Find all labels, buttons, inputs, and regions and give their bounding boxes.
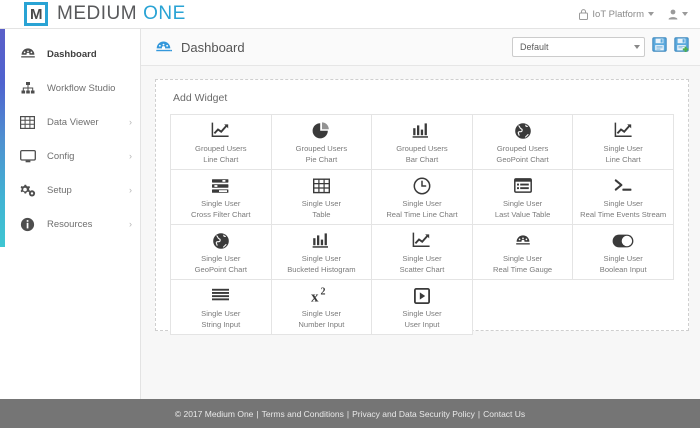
add-widget-title: Add Widget <box>173 92 674 104</box>
top-bar-right: IoT Platform <box>579 9 700 20</box>
dashboard-gauge-icon <box>155 39 172 56</box>
sidebar-item-label: Workflow Studio <box>47 83 115 94</box>
sidebar-item-label: Dashboard <box>47 49 97 60</box>
widget-card[interactable]: Single User GeoPoint Chart <box>171 225 272 280</box>
widget-scope: Grouped Users <box>396 143 448 154</box>
widget-card[interactable]: Single User Line Chart <box>573 115 674 170</box>
lock-icon <box>579 9 588 20</box>
dashboard-gauge-icon <box>19 46 36 63</box>
widget-type: Number Input <box>298 319 344 330</box>
save-dashboard-button[interactable] <box>652 37 667 57</box>
widget-scope: Single User <box>604 198 643 209</box>
footer-link-contact[interactable]: Contact Us <box>483 409 525 419</box>
widget-card[interactable]: Grouped Users Bar Chart <box>372 115 473 170</box>
widget-scope: Single User <box>302 308 341 319</box>
gears-icon <box>19 182 36 199</box>
widget-type: Pie Chart <box>306 154 338 165</box>
widget-scope: Single User <box>302 198 341 209</box>
footer-link-privacy[interactable]: Privacy and Data Security Policy <box>352 409 475 419</box>
sitemap-icon <box>19 80 36 97</box>
widget-type: Boolean Input <box>600 264 647 275</box>
bar-chart-icon <box>312 231 331 250</box>
sliders-icon <box>211 176 230 195</box>
chevron-right-icon: › <box>129 220 132 229</box>
widget-type: GeoPoint Chart <box>496 154 548 165</box>
brand-name: MEDIUMONE <box>57 3 186 25</box>
clock-icon <box>413 176 431 195</box>
widget-type: Bucketed Histogram <box>287 264 355 275</box>
widget-grid-empty-cell <box>573 280 674 335</box>
widget-type: Line Chart <box>606 154 641 165</box>
footer-separator: | <box>475 409 483 419</box>
sidebar-item-setup[interactable]: Setup › <box>0 173 140 207</box>
sidebar-item-resources[interactable]: Resources › <box>0 207 140 241</box>
widget-scope: Grouped Users <box>296 143 348 154</box>
widget-scope: Single User <box>503 253 542 264</box>
footer-link-terms[interactable]: Terms and Conditions <box>262 409 344 419</box>
dashboard-gauge-icon <box>514 231 532 250</box>
widget-scope: Single User <box>503 198 542 209</box>
monitor-icon <box>19 148 36 165</box>
save-as-new-dashboard-button[interactable] <box>674 37 689 57</box>
widget-type: Last Value Table <box>495 209 550 220</box>
sidebar-item-label: Config <box>47 151 74 162</box>
table-grid-icon <box>313 176 330 195</box>
play-box-icon <box>414 286 430 305</box>
main-content: Dashboard Default <box>141 29 700 399</box>
widget-card[interactable]: Single User Real Time Gauge <box>473 225 574 280</box>
widget-scope: Single User <box>302 253 341 264</box>
widget-type: Scatter Chart <box>400 264 445 275</box>
line-chart-icon <box>211 121 230 140</box>
widget-type: User Input <box>404 319 439 330</box>
save-floppy-icon <box>652 37 667 57</box>
widget-card[interactable]: Single User Boolean Input <box>573 225 674 280</box>
widget-grid-empty-cell <box>473 280 574 335</box>
platform-label: IoT Platform <box>592 9 644 20</box>
widget-card[interactable]: Single User Bucketed Histogram <box>272 225 373 280</box>
widget-scope: Single User <box>201 198 240 209</box>
widget-card[interactable]: Grouped Users GeoPoint Chart <box>473 115 574 170</box>
sidebar-item-label: Data Viewer <box>47 117 99 128</box>
widget-scope: Single User <box>604 143 643 154</box>
widget-card[interactable]: Grouped Users Line Chart <box>171 115 272 170</box>
brand-logo[interactable]: M MEDIUMONE <box>0 2 186 26</box>
widget-grid: Grouped Users Line Chart Grouped Users P… <box>170 114 674 335</box>
globe-icon <box>514 121 532 140</box>
sidebar-item-label: Setup <box>47 185 72 196</box>
svg-text:2: 2 <box>320 287 325 298</box>
chevron-down-icon <box>634 45 640 49</box>
info-circle-icon <box>19 216 36 233</box>
toggle-on-icon <box>612 231 634 250</box>
logo-mark-icon: M <box>24 2 48 26</box>
page-header-tools: Default <box>512 37 689 57</box>
app-root: M MEDIUMONE IoT Platform <box>0 0 700 428</box>
dashboard-select[interactable]: Default <box>512 37 645 57</box>
widget-type: Line Chart <box>203 154 238 165</box>
line-chart-icon <box>412 231 431 250</box>
add-widget-panel: Add Widget Grouped Users Line Chart <box>155 79 689 331</box>
sidebar-item-config[interactable]: Config › <box>0 139 140 173</box>
widget-card[interactable]: Single User Table <box>272 170 373 225</box>
widget-card[interactable]: Single User String Input <box>171 280 272 335</box>
page-header: Dashboard Default <box>141 29 700 66</box>
sidebar-item-workflow-studio[interactable]: Workflow Studio <box>0 71 140 105</box>
widget-type: Real Time Events Stream <box>580 209 666 220</box>
save-floppy-plus-icon <box>674 37 689 57</box>
widget-type: Bar Chart <box>406 154 439 165</box>
widget-scope: Grouped Users <box>195 143 247 154</box>
widget-type: String Input <box>201 319 240 330</box>
widget-card[interactable]: Single User User Input <box>372 280 473 335</box>
bar-chart-icon <box>412 121 431 140</box>
dashboard-select-value: Default <box>520 42 630 52</box>
list-alt-icon <box>514 176 532 195</box>
widget-card[interactable]: Single User Scatter Chart <box>372 225 473 280</box>
widget-type: GeoPoint Chart <box>195 264 247 275</box>
widget-card[interactable]: x2 Single User Number Input <box>272 280 373 335</box>
logo-letter: M <box>30 7 42 22</box>
footer-copyright: © 2017 Medium One <box>175 409 254 419</box>
widget-type: Cross Filter Chart <box>191 209 251 220</box>
widget-card[interactable]: Single User Last Value Table <box>473 170 574 225</box>
superscript-icon: x2 <box>311 286 332 305</box>
page-title: Dashboard <box>181 40 245 55</box>
footer-separator: | <box>344 409 352 419</box>
chevron-right-icon: › <box>129 152 132 161</box>
widget-scope: Single User <box>402 253 441 264</box>
sidebar-item-label: Resources <box>47 219 92 230</box>
globe-icon <box>212 231 230 250</box>
sidebar-item-dashboard[interactable]: Dashboard <box>0 37 140 71</box>
widget-scope: Single User <box>604 253 643 264</box>
pie-chart-icon <box>312 121 330 140</box>
sidebar: Dashboard Workflow Studio Data Viewer › <box>0 29 141 399</box>
widget-scope: Single User <box>201 253 240 264</box>
brand-name-first: MEDIUM <box>57 3 137 24</box>
body-row: Dashboard Workflow Studio Data Viewer › <box>0 29 700 399</box>
widget-scope: Single User <box>402 198 441 209</box>
line-chart-icon <box>614 121 633 140</box>
chevron-down-icon <box>682 12 688 16</box>
sidebar-item-data-viewer[interactable]: Data Viewer › <box>0 105 140 139</box>
widget-type: Real Time Gauge <box>493 264 552 275</box>
chevron-right-icon: › <box>129 186 132 195</box>
platform-switcher[interactable]: IoT Platform <box>579 9 654 20</box>
footer-separator: | <box>253 409 261 419</box>
terminal-icon <box>614 176 633 195</box>
widget-card[interactable]: Single User Cross Filter Chart <box>171 170 272 225</box>
align-justify-icon <box>211 286 230 305</box>
svg-text:x: x <box>311 290 319 305</box>
user-icon <box>668 9 678 20</box>
widget-type: Table <box>312 209 330 220</box>
chevron-down-icon <box>648 12 654 16</box>
brand-name-second: ONE <box>143 3 186 24</box>
widget-scope: Single User <box>201 308 240 319</box>
content-area: Add Widget Grouped Users Line Chart <box>141 66 700 399</box>
widget-card[interactable]: Grouped Users Pie Chart <box>272 115 373 170</box>
widget-card[interactable]: Single User Real Time Events Stream <box>573 170 674 225</box>
widget-card[interactable]: Single User Real Time Line Chart <box>372 170 473 225</box>
widget-scope: Grouped Users <box>497 143 549 154</box>
chevron-right-icon: › <box>129 118 132 127</box>
widget-scope: Single User <box>402 308 441 319</box>
top-bar: M MEDIUMONE IoT Platform <box>0 0 700 29</box>
table-grid-icon <box>19 114 36 131</box>
footer: © 2017 Medium One | Terms and Conditions… <box>0 399 700 428</box>
widget-type: Real Time Line Chart <box>386 209 457 220</box>
user-menu[interactable] <box>668 9 688 20</box>
